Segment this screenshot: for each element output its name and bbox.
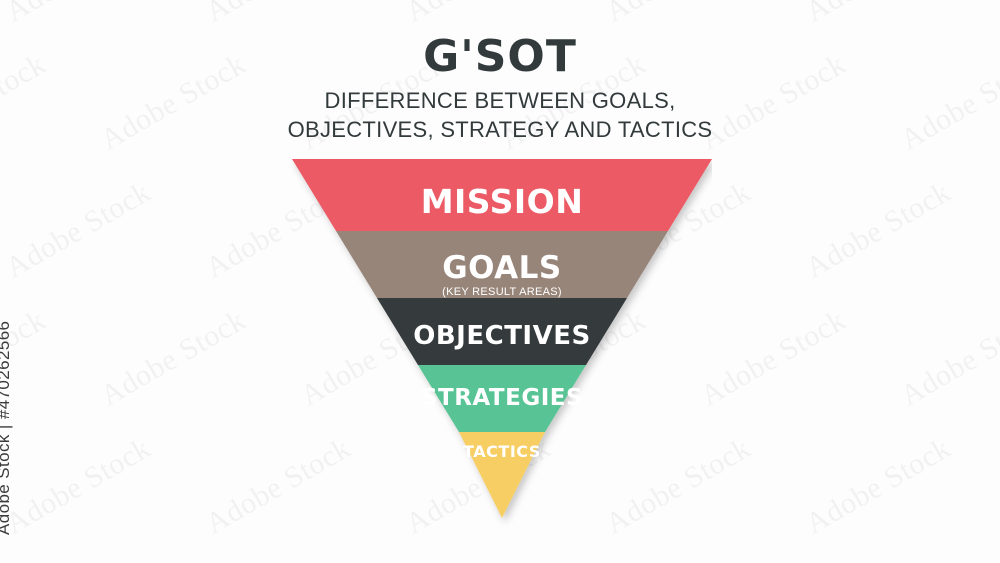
watermark-text: Adobe Stock [895, 303, 1000, 413]
stock-attribution-label: Adobe Stock | #470262566 [0, 321, 14, 535]
watermark-text: Adobe Stock [695, 303, 852, 413]
watermark-text: Adobe Stock [800, 0, 957, 29]
page-subtitle-line-1: DIFFERENCE BETWEEN GOALS, [325, 88, 676, 113]
watermark-text: Adobe Stock [600, 0, 757, 29]
title-block: G'SOT DIFFERENCE BETWEEN GOALS, OBJECTIV… [0, 34, 1000, 144]
watermark-text: Adobe Stock [95, 559, 252, 563]
poster-canvas: Adobe StockAdobe StockAdobe StockAdobe S… [0, 0, 1000, 563]
funnel-band-strategies[interactable] [418, 365, 586, 432]
funnel-band-objectives[interactable] [377, 298, 627, 365]
gsot-funnel-diagram: MISSION GOALS (KEY RESULT AREAS) OBJECTI… [292, 159, 712, 529]
watermark-text: Adobe Stock [800, 175, 957, 285]
watermark-text: Adobe Stock [200, 0, 357, 29]
watermark-text: Adobe Stock [0, 559, 52, 563]
watermark-text: Adobe Stock [495, 559, 652, 563]
watermark-text: Adobe Stock [695, 559, 852, 563]
watermark-text: Adobe Stock [0, 0, 157, 29]
watermark-text: Adobe Stock [295, 559, 452, 563]
funnel-band-mission[interactable] [292, 159, 712, 231]
funnel-band-tactics[interactable] [459, 432, 545, 518]
watermark-text: Adobe Stock [95, 303, 252, 413]
page-title: G'SOT [0, 34, 1000, 80]
watermark-text: Adobe Stock [400, 0, 557, 29]
watermark-text: Adobe Stock [0, 175, 157, 285]
watermark-text: Adobe Stock [895, 559, 1000, 563]
watermark-text: Adobe Stock [0, 431, 157, 541]
funnel-band-goals[interactable] [336, 231, 668, 298]
funnel-shape [292, 159, 712, 529]
watermark-text: Adobe Stock [800, 431, 957, 541]
page-subtitle-line-2: OBJECTIVES, STRATEGY AND TACTICS [288, 117, 713, 142]
page-subtitle: DIFFERENCE BETWEEN GOALS, OBJECTIVES, ST… [0, 86, 1000, 144]
